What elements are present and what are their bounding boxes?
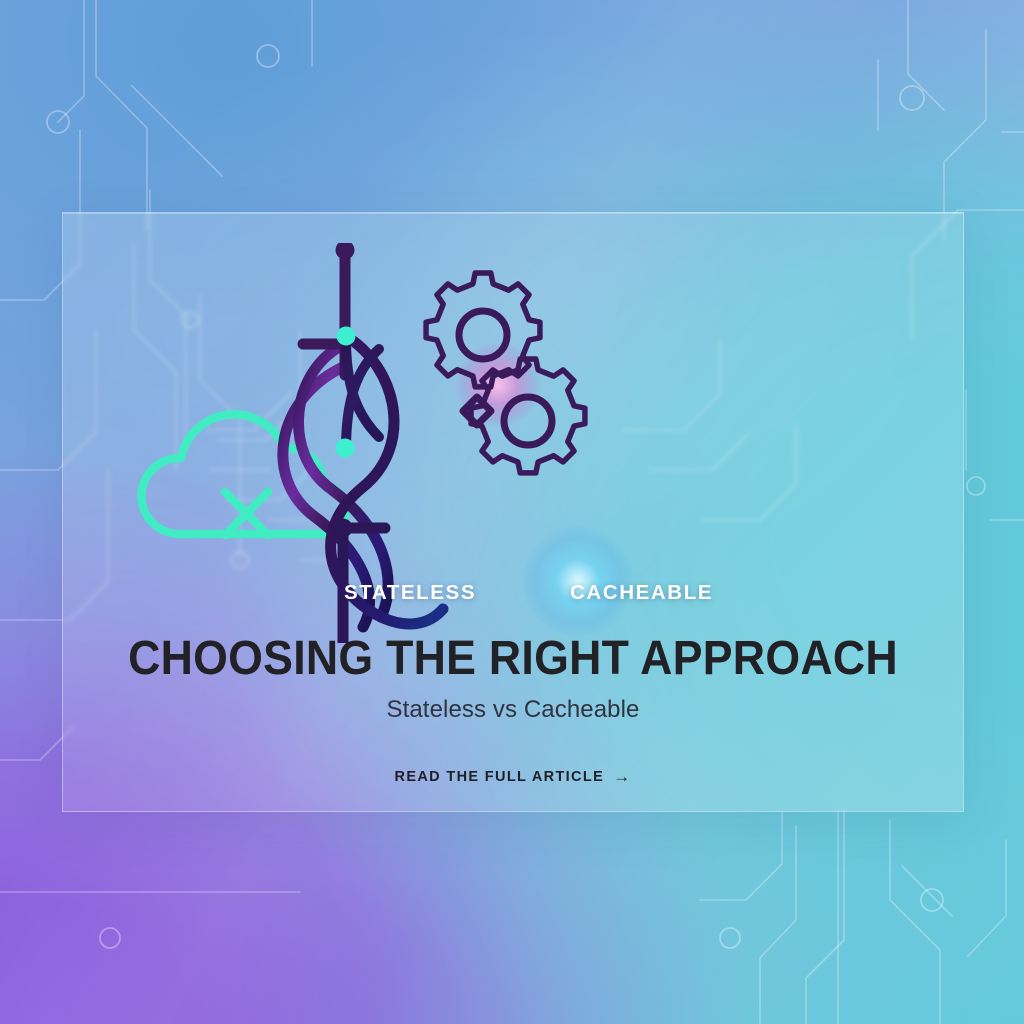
cta-label: READ THE FULL ARTICLE [395,769,605,785]
gear-upper [426,273,540,387]
gear-nub [463,397,491,425]
illustration: STATELESS CACHEABLE [63,243,963,643]
node-dot-cyan-upper [337,327,356,346]
illustration-svg [63,243,963,643]
arrow-right-icon: → [613,768,631,785]
page-title: CHOOSING THE RIGHT APPROACH [95,631,932,686]
page-subtitle: Stateless vs Cacheable [63,696,963,724]
node-dot-bottom [334,519,353,538]
text-block: CHOOSING THE RIGHT APPROACH Stateless vs… [63,631,963,786]
read-full-article-link[interactable]: READ THE FULL ARTICLE → [395,768,632,785]
poster-canvas: STATELESS CACHEABLE CHOOSING THE RIGHT A… [0,0,1024,1024]
glass-card: STATELESS CACHEABLE CHOOSING THE RIGHT A… [62,212,964,812]
label-cacheable: CACHEABLE [570,581,713,605]
node-dot-cyan-lower [336,439,355,458]
gears-icon [426,273,585,473]
node-dot-top [336,243,355,260]
label-stateless: STATELESS [344,581,476,605]
